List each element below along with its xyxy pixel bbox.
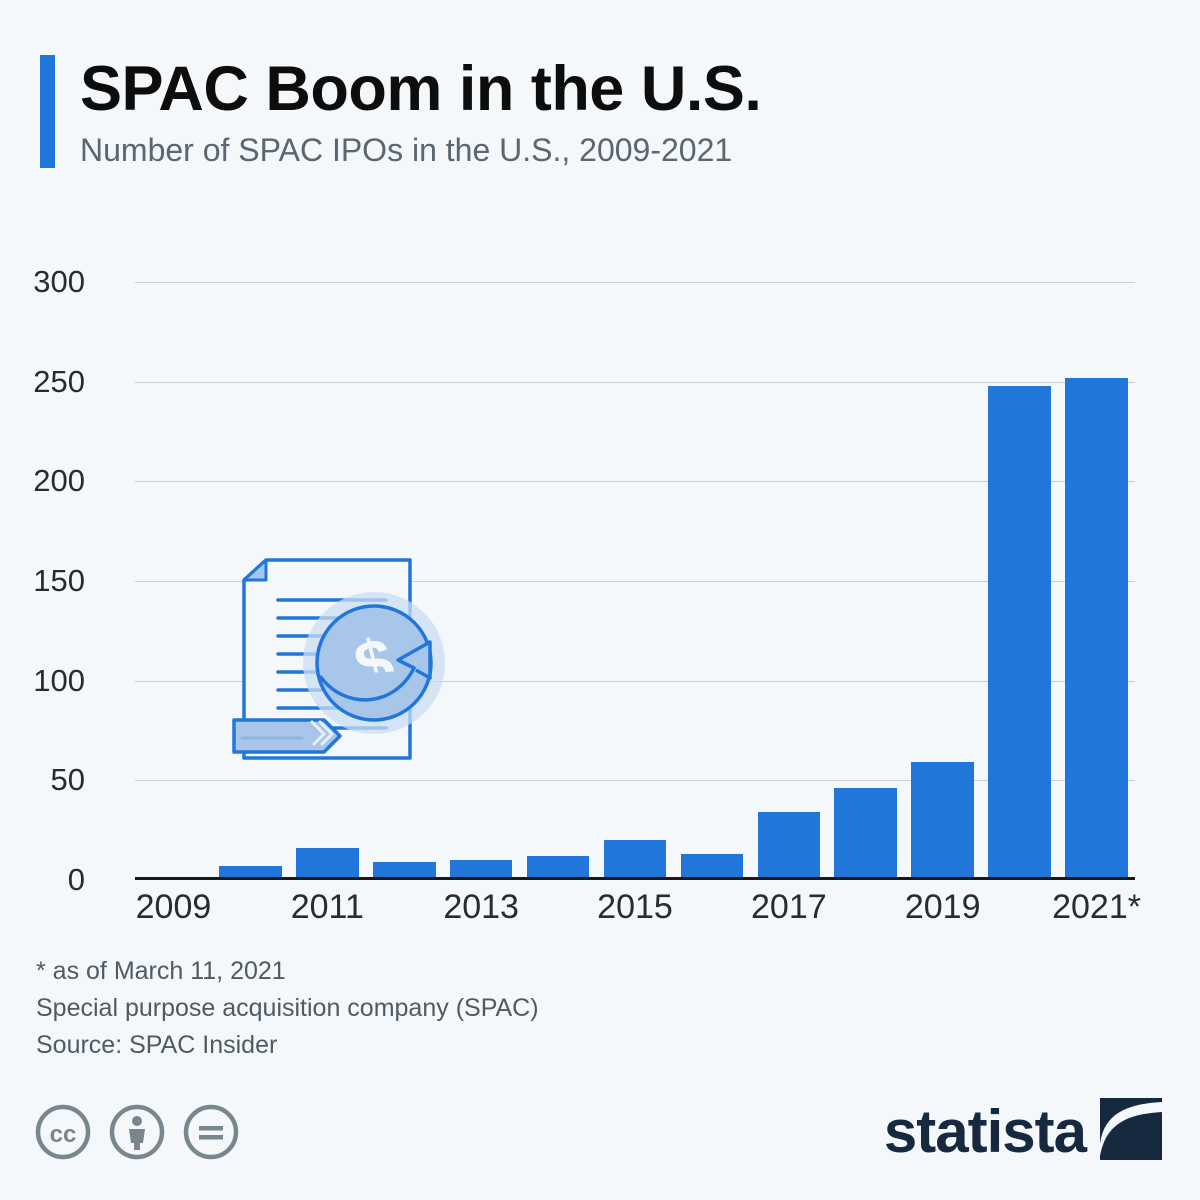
y-axis-tick-label: 150 xyxy=(0,563,85,599)
x-axis-labels: 2009201120132015201720192021* xyxy=(135,888,1135,938)
page-title: SPAC Boom in the U.S. xyxy=(80,57,761,121)
bar-2015[interactable] xyxy=(604,840,667,880)
bar-2021[interactable] xyxy=(1065,378,1128,880)
x-axis-tick-label: 2011 xyxy=(291,888,364,927)
bar-2020[interactable] xyxy=(988,386,1051,880)
no-derivatives-equals-icon[interactable] xyxy=(182,1103,240,1166)
footnotes: * as of March 11, 2021Special purpose ac… xyxy=(36,953,539,1064)
svg-text:cc: cc xyxy=(50,1121,77,1148)
x-axis-tick-label: 2017 xyxy=(751,888,827,927)
creative-commons-badges: cc xyxy=(34,1103,240,1166)
statista-mark-icon xyxy=(1100,1098,1162,1165)
footnote-line: Special purpose acquisition company (SPA… xyxy=(36,990,539,1027)
attribution-person-icon[interactable] xyxy=(108,1103,166,1166)
bar-2017[interactable] xyxy=(758,812,821,880)
document-with-dollar-coin-icon: $ xyxy=(232,558,452,763)
footnote-line: Source: SPAC Insider xyxy=(36,1027,539,1064)
x-axis-tick-label: 2013 xyxy=(443,888,519,927)
y-axis-tick-label: 0 xyxy=(0,862,85,898)
cc-icon[interactable]: cc xyxy=(34,1103,92,1166)
page-subtitle: Number of SPAC IPOs in the U.S., 2009-20… xyxy=(80,133,761,168)
x-axis-line xyxy=(135,877,1135,880)
y-axis-tick-label: 200 xyxy=(0,463,85,499)
y-axis-tick-label: 50 xyxy=(0,762,85,798)
footnote-line: * as of March 11, 2021 xyxy=(36,953,539,990)
bar-2011[interactable] xyxy=(296,848,359,880)
header-text: SPAC Boom in the U.S. Number of SPAC IPO… xyxy=(80,55,761,168)
y-axis-tick-label: 250 xyxy=(0,364,85,400)
bar-2018[interactable] xyxy=(834,788,897,880)
x-axis-tick-label: 2009 xyxy=(136,888,212,927)
header: SPAC Boom in the U.S. Number of SPAC IPO… xyxy=(40,55,1160,168)
x-axis-tick-label: 2019 xyxy=(905,888,981,927)
bar-2019[interactable] xyxy=(911,762,974,880)
y-axis-tick-label: 300 xyxy=(0,264,85,300)
accent-bar xyxy=(40,55,55,168)
y-axis-tick-label: 100 xyxy=(0,663,85,699)
x-axis-tick-label: 2015 xyxy=(597,888,673,927)
x-axis-tick-label: 2021* xyxy=(1052,888,1141,927)
statista-logo: statista xyxy=(884,1098,1162,1165)
statista-wordmark: statista xyxy=(884,1102,1086,1162)
chart: 050100150200250300 200920112013201520172… xyxy=(0,250,1200,940)
